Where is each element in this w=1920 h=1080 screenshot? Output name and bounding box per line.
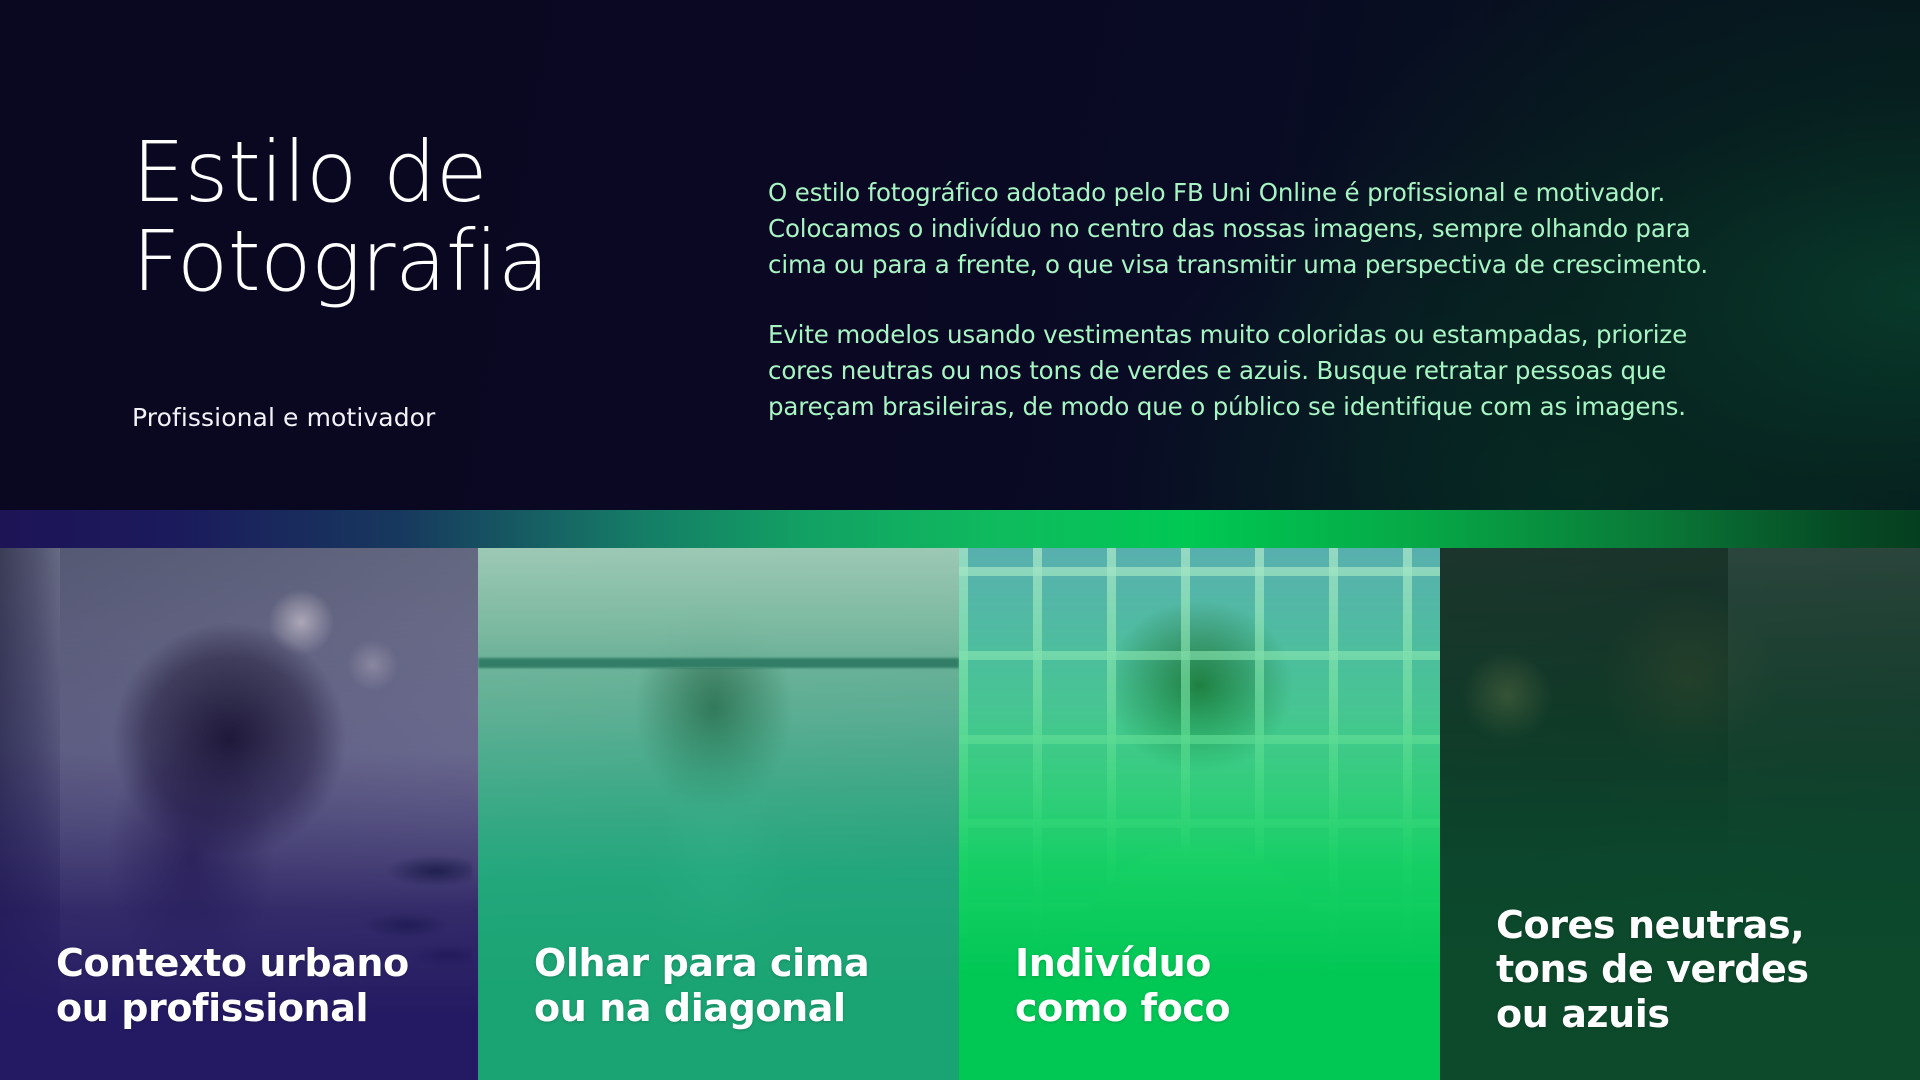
photo-card-caption-4: Cores neutras, tons de verdes ou azuis: [1496, 903, 1896, 1036]
photo-card-individuo-como-foco[interactable]: Indivíduo como foco: [959, 548, 1440, 1080]
paragraph-1: O estilo fotográfico adotado pelo FB Uni…: [768, 175, 1788, 283]
page-subtitle: Profissional e motivador: [132, 403, 435, 432]
photo-card-contexto-urbano[interactable]: Contexto urbano ou profissional: [0, 548, 478, 1080]
body-copy-block: O estilo fotográfico adotado pelo FB Uni…: [768, 175, 1788, 425]
title-block: Estilo de Fotografia: [132, 128, 692, 306]
slide-estilo-de-fotografia: Estilo de Fotografia Profissional e moti…: [0, 0, 1920, 1080]
photo-card-caption-1: Contexto urbano ou profissional: [56, 941, 454, 1030]
gradient-divider-bar: [0, 510, 1920, 548]
photo-card-olhar-para-cima[interactable]: Olhar para cima ou na diagonal: [478, 548, 959, 1080]
paragraph-2: Evite modelos usando vestimentas muito c…: [768, 317, 1788, 425]
photo-cards-row: Contexto urbano ou profissional Olhar pa…: [0, 548, 1920, 1080]
page-title: Estilo de Fotografia: [132, 128, 692, 306]
header-section: Estilo de Fotografia Profissional e moti…: [0, 0, 1920, 510]
photo-card-cores-neutras[interactable]: Cores neutras, tons de verdes ou azuis: [1440, 548, 1920, 1080]
photo-card-caption-2: Olhar para cima ou na diagonal: [534, 941, 935, 1030]
photo-card-caption-3: Indivíduo como foco: [1015, 941, 1416, 1030]
